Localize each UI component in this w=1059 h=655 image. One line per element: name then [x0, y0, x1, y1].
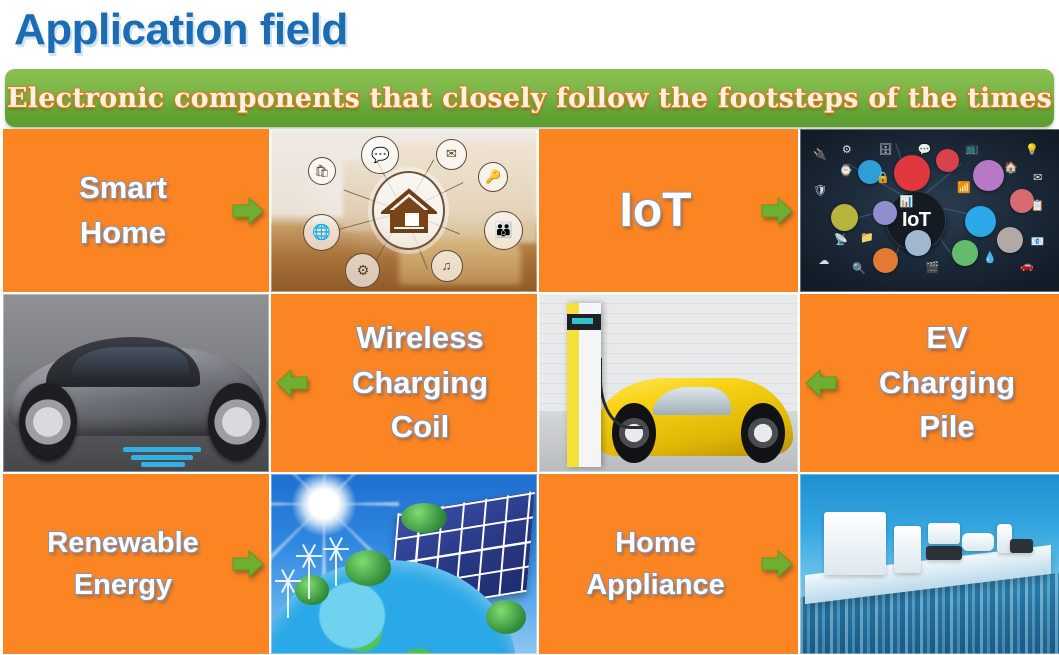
label-smart-home-line1: Smart: [29, 166, 217, 211]
image-frame: [3, 294, 269, 472]
image-frame: [271, 129, 537, 292]
label-iot: IoT: [539, 176, 756, 246]
label-wcc-line1: Wireless: [329, 316, 511, 361]
headline-banner: Electronic components that closely follo…: [5, 69, 1054, 127]
label-wcc-line3: Coil: [329, 405, 511, 450]
cell-wireless-charging-coil-label[interactable]: Wireless Charging Coil: [271, 294, 537, 472]
page-title: Application field: [14, 2, 348, 57]
cell-iot-image: IoT 🔌 ⚙ 🗄 💬 📺 💡 🏠 ✉ ⌚ 🔒 🛡 📊: [800, 129, 1059, 292]
cell-smart-home-image: 💬 ✉ 🔑 👪 ♫ ⚙ 🌐 🛍: [271, 129, 537, 292]
cell-wireless-charging-image: [3, 294, 269, 472]
cell-renewable-energy-image: [271, 474, 537, 654]
label-renewable-energy: Renewable Energy: [3, 522, 227, 606]
label-evc-line2: Charging: [858, 361, 1036, 406]
arrow-right-icon: [756, 544, 798, 584]
arrow-right-icon: [756, 191, 798, 231]
headline-banner-text: Electronic components that closely follo…: [7, 83, 1052, 114]
label-ha-line2: Appliance: [565, 564, 746, 606]
cell-iot-label[interactable]: IoT: [539, 129, 798, 292]
image-frame: [800, 129, 1059, 292]
image-frame: [800, 474, 1059, 654]
cell-renewable-energy-label[interactable]: Renewable Energy: [3, 474, 269, 654]
image-frame: [271, 474, 537, 654]
cell-ev-charging-pile-label[interactable]: EV Charging Pile: [800, 294, 1059, 472]
label-smart-home-line2: Home: [29, 211, 217, 256]
label-re-line1: Renewable: [29, 522, 217, 564]
label-wireless-charging-coil: Wireless Charging Coil: [313, 316, 537, 451]
label-wcc-line2: Charging: [329, 361, 511, 406]
label-evc-line1: EV: [858, 316, 1036, 361]
cell-home-appliance-image: [800, 474, 1059, 654]
label-ev-charging-pile: EV Charging Pile: [842, 316, 1059, 451]
label-ha-line1: Home: [565, 522, 746, 564]
arrow-left-icon: [800, 363, 842, 403]
label-evc-line3: Pile: [858, 405, 1036, 450]
label-home-appliance: Home Appliance: [539, 522, 756, 606]
arrow-right-icon: [227, 191, 269, 231]
cell-ev-charging-image: [539, 294, 798, 472]
label-re-line2: Energy: [29, 564, 217, 606]
arrow-right-icon: [227, 544, 269, 584]
label-smart-home: Smart Home: [3, 166, 227, 256]
application-field-grid: Smart Home: [3, 129, 1056, 653]
cell-home-appliance-label[interactable]: Home Appliance: [539, 474, 798, 654]
arrow-left-icon: [271, 363, 313, 403]
image-frame: [539, 294, 798, 472]
cell-smart-home-label[interactable]: Smart Home: [3, 129, 269, 292]
